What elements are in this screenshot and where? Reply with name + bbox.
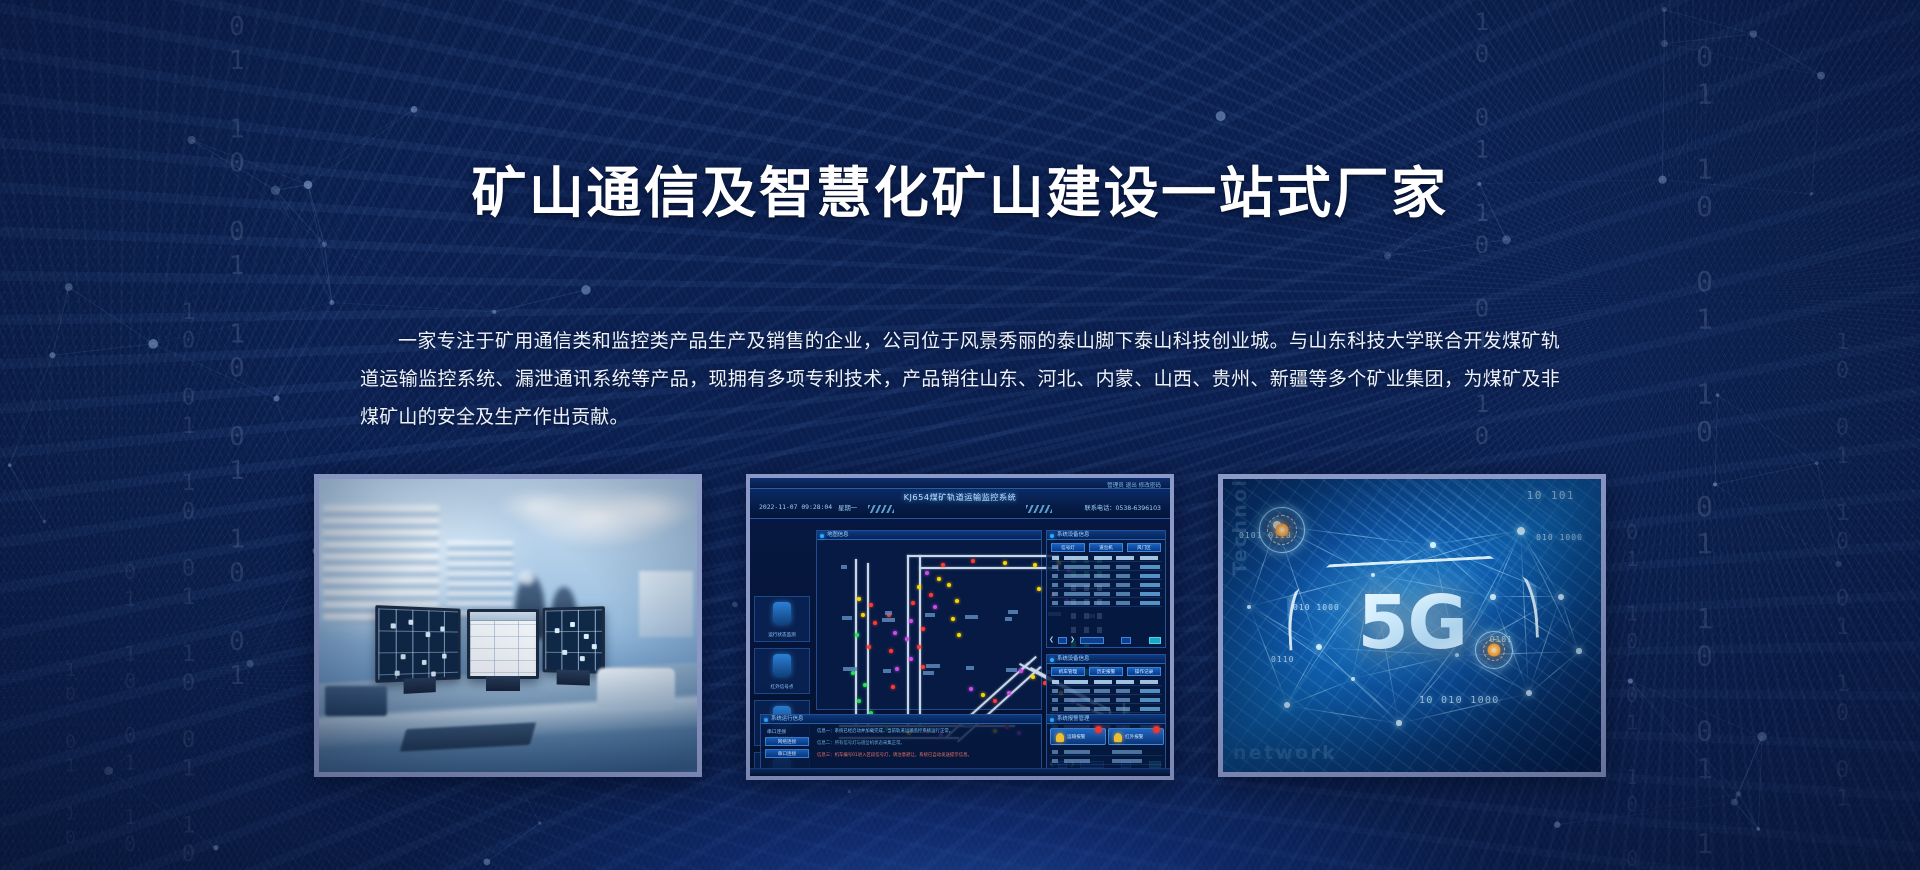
table-row[interactable] bbox=[1050, 600, 1162, 607]
table-row[interactable] bbox=[1050, 591, 1162, 598]
dashboard-tool-1-label: 红外信号点 bbox=[755, 684, 809, 690]
table-cell bbox=[1052, 689, 1058, 693]
map-label-tag-25 bbox=[1008, 610, 1018, 614]
table-cell bbox=[1116, 707, 1130, 711]
map-marker-6 bbox=[925, 571, 929, 575]
table-cell bbox=[1140, 698, 1160, 702]
device-tab-0[interactable]: 信号灯 bbox=[1051, 543, 1085, 552]
pager-size-select[interactable] bbox=[1080, 637, 1104, 644]
map-marker-3 bbox=[1033, 563, 1037, 567]
map-marker-42 bbox=[1031, 675, 1035, 679]
log-panel-header: 系统运行信息 bbox=[761, 715, 1041, 724]
mine-rail-schematic bbox=[821, 541, 1037, 705]
map-marker-39 bbox=[993, 699, 997, 703]
gallery-item-rail-dashboard[interactable]: KJ654煤矿轨道运输监控系统 管理员 退出 修改密码 2022-11-07 0… bbox=[746, 474, 1174, 780]
map-marker-26 bbox=[889, 649, 893, 653]
map-marker-1 bbox=[971, 559, 975, 563]
map-label-tag-10 bbox=[965, 615, 978, 619]
gallery-item-5g[interactable]: Technology innovation network 0101 0110 … bbox=[1218, 474, 1606, 777]
alarm-widget-title: 系统报警管理 bbox=[1057, 716, 1089, 722]
pager-prev-icon[interactable]: ❮ bbox=[1049, 636, 1054, 643]
photo-vignette bbox=[319, 479, 697, 772]
table-cell bbox=[1064, 583, 1090, 587]
table-header-row bbox=[1050, 555, 1162, 562]
map-marker-37 bbox=[969, 687, 973, 691]
dashboard-alarm-widget-panel[interactable]: 系统报警管理 运输报警 红外报警 bbox=[1046, 714, 1166, 770]
device-tab-1[interactable]: 道岔机 bbox=[1089, 543, 1123, 552]
log-panel-title: 系统运行信息 bbox=[771, 716, 803, 722]
map-label-tag-7 bbox=[842, 616, 852, 620]
dashboard-system-title: KJ654煤矿轨道运输监控系统 bbox=[750, 491, 1170, 503]
table-cell bbox=[1064, 574, 1090, 578]
map-marker-16 bbox=[855, 633, 859, 637]
table-cell bbox=[1116, 698, 1130, 702]
table-cell bbox=[1052, 574, 1058, 578]
rail-vertical-4 bbox=[919, 555, 921, 727]
table-cell bbox=[1094, 574, 1110, 578]
log-button-serial[interactable]: 串口连接 bbox=[765, 749, 809, 758]
alarm-infrared-label: 红外报警 bbox=[1125, 734, 1143, 740]
alarm-widget-row bbox=[1050, 758, 1162, 765]
map-label-tag-22 bbox=[885, 611, 892, 615]
rail-top-gallery bbox=[907, 555, 1059, 557]
dashboard-device-panel[interactable]: 系统设备信息 信号灯 道岔机 风门区 ❮❯ bbox=[1046, 530, 1166, 648]
table-cell bbox=[1140, 601, 1160, 605]
map-label-tag-2 bbox=[923, 671, 934, 675]
log-button-network[interactable]: 网络连接 bbox=[765, 737, 809, 746]
panel-bullet-icon bbox=[820, 534, 824, 538]
device-table: ❮❯ bbox=[1047, 555, 1165, 633]
dashboard-header: KJ654煤矿轨道运输监控系统 管理员 退出 修改密码 2022-11-07 0… bbox=[750, 489, 1170, 519]
map-marker-22 bbox=[909, 657, 913, 661]
map-label-tag-8 bbox=[883, 669, 891, 673]
locomotive-panel-header: 系统设备信息 bbox=[1047, 655, 1165, 664]
table-cell bbox=[1052, 583, 1058, 587]
table-cell bbox=[1116, 601, 1130, 605]
device-tab-2[interactable]: 风门区 bbox=[1127, 543, 1161, 552]
map-marker-20 bbox=[905, 637, 909, 641]
rail-top-gallery-2 bbox=[919, 567, 1059, 569]
table-cell bbox=[1116, 583, 1130, 587]
map-marker-35 bbox=[857, 699, 861, 703]
map-marker-25 bbox=[893, 631, 897, 635]
hero-banner: 01 10 01 10 01 10 0110 01 10 01 10 01 10… bbox=[0, 0, 1920, 870]
table-cell bbox=[1052, 707, 1058, 711]
company-description: 一家专注于矿用通信类和监控类产品生产及销售的企业，公司位于风景秀丽的泰山脚下泰山… bbox=[360, 322, 1560, 436]
table-cell bbox=[1094, 601, 1110, 605]
table-row[interactable] bbox=[1050, 564, 1162, 571]
photo-vignette bbox=[1223, 479, 1601, 772]
table-cell bbox=[1064, 565, 1090, 569]
table-cell bbox=[1116, 689, 1130, 693]
alarm-tab-2[interactable]: 操作记录 bbox=[1127, 667, 1161, 676]
pager-jump-input[interactable] bbox=[1121, 637, 1131, 644]
map-marker-21 bbox=[917, 645, 921, 649]
map-panel-title: 地图信息 bbox=[827, 532, 849, 538]
map-label-tag-23 bbox=[926, 664, 940, 668]
table-row[interactable] bbox=[1050, 688, 1162, 695]
map-marker-33 bbox=[851, 671, 855, 675]
map-marker-14 bbox=[861, 613, 865, 617]
dashboard-account-menu[interactable]: 管理员 退出 修改密码 bbox=[1107, 481, 1161, 489]
rail-vertical-3 bbox=[907, 555, 909, 727]
table-cell bbox=[1116, 565, 1130, 569]
map-marker-41 bbox=[1019, 669, 1023, 673]
table-cell bbox=[1116, 574, 1130, 578]
dashboard-tool-1[interactable]: 红外信号点 bbox=[754, 648, 810, 694]
table-cell bbox=[1140, 689, 1160, 693]
table-cell bbox=[1140, 565, 1160, 569]
alarm-infrared-button[interactable]: 红外报警 bbox=[1108, 728, 1164, 745]
map-marker-40 bbox=[1007, 691, 1011, 695]
panel-bullet-icon bbox=[1050, 658, 1054, 662]
map-label-tag-0 bbox=[841, 565, 847, 569]
map-marker-7 bbox=[937, 577, 941, 581]
monitoring-icon bbox=[773, 602, 791, 624]
map-marker-32 bbox=[957, 633, 961, 637]
dashboard-map-panel[interactable]: 地图信息 bbox=[816, 530, 1042, 710]
table-cell bbox=[1094, 707, 1110, 711]
alarm-transport-label: 运输报警 bbox=[1067, 734, 1085, 740]
table-cell bbox=[1064, 707, 1090, 711]
header-chevron-right bbox=[1026, 505, 1052, 513]
map-label-tag-14 bbox=[843, 667, 857, 671]
map-marker-12 bbox=[857, 597, 861, 601]
table-cell bbox=[1052, 565, 1058, 569]
locomotive-panel-title: 系统设备信息 bbox=[1057, 656, 1089, 662]
panel-bullet-icon bbox=[1050, 534, 1054, 538]
table-cell bbox=[1064, 689, 1090, 693]
map-marker-10 bbox=[911, 601, 915, 605]
map-marker-30 bbox=[955, 599, 959, 603]
table-cell bbox=[1094, 583, 1110, 587]
dashboard-footer-strip bbox=[750, 768, 1170, 776]
map-marker-28 bbox=[891, 685, 895, 689]
panel-bullet-icon bbox=[1050, 718, 1054, 722]
map-marker-23 bbox=[921, 665, 925, 669]
table-cell bbox=[1094, 698, 1110, 702]
table-row[interactable] bbox=[1050, 706, 1162, 713]
table-cell bbox=[1116, 592, 1130, 596]
table-cell bbox=[1094, 592, 1110, 596]
dashboard-tool-0-label: 运行状态监测 bbox=[755, 632, 809, 638]
dashboard-log-panel[interactable]: 系统运行信息 串口连接 网络连接 串口连接 信息一：系统已经启动并加载完成，当前… bbox=[760, 714, 1042, 770]
table-cell bbox=[1140, 574, 1160, 578]
map-label-tag-1 bbox=[882, 618, 895, 622]
alarm-tab-0[interactable]: 机车管理 bbox=[1051, 667, 1085, 676]
alarm-widget-row bbox=[1050, 749, 1162, 756]
dashboard-tool-0[interactable]: 运行状态监测 bbox=[754, 596, 810, 642]
map-marker-18 bbox=[909, 619, 913, 623]
page-title: 矿山通信及智慧化矿山建设一站式厂家 bbox=[0, 163, 1920, 225]
table-cell bbox=[1052, 698, 1058, 702]
table-cell bbox=[1094, 565, 1110, 569]
map-marker-38 bbox=[981, 693, 985, 697]
dashboard-datetime: 2022-11-07 09:28:04 bbox=[759, 503, 832, 511]
map-label-tag-4 bbox=[1005, 617, 1012, 621]
table-pager[interactable]: ❮❯ bbox=[1049, 636, 1163, 645]
log-line-1: 信息二：所有信号灯与道岔机状态采集正常。 bbox=[817, 740, 1033, 748]
map-marker-0 bbox=[941, 563, 945, 567]
pager-go-button[interactable] bbox=[1149, 637, 1161, 644]
dashboard-weekday: 星期一 bbox=[838, 503, 857, 512]
map-marker-15 bbox=[873, 621, 877, 625]
log-line-0: 信息一：系统已经启动并加载完成，当前轨道运输监控系统运行正常。 bbox=[817, 728, 1033, 736]
map-marker-34 bbox=[863, 683, 867, 687]
table-cell bbox=[1140, 592, 1160, 596]
map-label-tag-17 bbox=[966, 666, 974, 670]
map-marker-8 bbox=[917, 585, 921, 589]
alarm-count-badge bbox=[1153, 726, 1160, 733]
bell-icon bbox=[1114, 733, 1122, 742]
gallery-item-control-room[interactable] bbox=[314, 474, 702, 777]
bell-icon bbox=[1056, 733, 1064, 742]
header-chevron-left bbox=[868, 505, 894, 513]
device-panel-header: 系统设备信息 bbox=[1047, 531, 1165, 540]
table-cell bbox=[1064, 601, 1090, 605]
table-cell bbox=[1052, 592, 1058, 596]
image-gallery: KJ654煤矿轨道运输监控系统 管理员 退出 修改密码 2022-11-07 0… bbox=[314, 474, 1606, 786]
table-cell bbox=[1064, 592, 1090, 596]
map-marker-9 bbox=[929, 593, 933, 597]
map-marker-19 bbox=[921, 627, 925, 631]
table-cell bbox=[1052, 601, 1058, 605]
table-row[interactable] bbox=[1050, 697, 1162, 704]
map-marker-17 bbox=[867, 645, 871, 649]
device-panel-title: 系统设备信息 bbox=[1057, 532, 1089, 538]
map-marker-2 bbox=[1003, 561, 1007, 565]
table-cell bbox=[1094, 689, 1110, 693]
log-line-2: 信息三：机车编号01进入区段信号灯，请注意避让，系统已自动发送提示信息。 bbox=[817, 752, 1033, 760]
table-row[interactable] bbox=[1050, 573, 1162, 580]
map-marker-29 bbox=[947, 583, 951, 587]
map-marker-31 bbox=[951, 617, 955, 621]
table-cell bbox=[1140, 707, 1160, 711]
table-row[interactable] bbox=[1050, 582, 1162, 589]
alarm-transport-button[interactable]: 运输报警 bbox=[1050, 728, 1106, 745]
alarm-count-badge bbox=[1095, 726, 1102, 733]
alarm-tab-1[interactable]: 历史报警 bbox=[1089, 667, 1123, 676]
pager-next-icon[interactable]: ❯ bbox=[1070, 636, 1075, 643]
map-marker-61 bbox=[1037, 587, 1041, 591]
alarm-widget-header: 系统报警管理 bbox=[1047, 715, 1165, 724]
table-header-row bbox=[1050, 679, 1162, 686]
map-marker-27 bbox=[895, 667, 899, 671]
dashboard-contact-phone: 联系电话：0538-6396103 bbox=[1085, 503, 1161, 512]
map-panel-header: 地图信息 bbox=[817, 531, 1041, 540]
table-cell bbox=[1064, 698, 1090, 702]
log-connection-label: 串口连接 bbox=[767, 728, 786, 735]
pager-page-box[interactable] bbox=[1058, 637, 1067, 644]
map-marker-11 bbox=[933, 605, 937, 609]
table-cell bbox=[1140, 583, 1160, 587]
map-label-tag-11 bbox=[1006, 668, 1017, 672]
panel-bullet-icon bbox=[764, 718, 768, 722]
map-label-tag-16 bbox=[925, 613, 935, 617]
map-marker-13 bbox=[869, 603, 873, 607]
infrared-icon bbox=[773, 654, 791, 676]
